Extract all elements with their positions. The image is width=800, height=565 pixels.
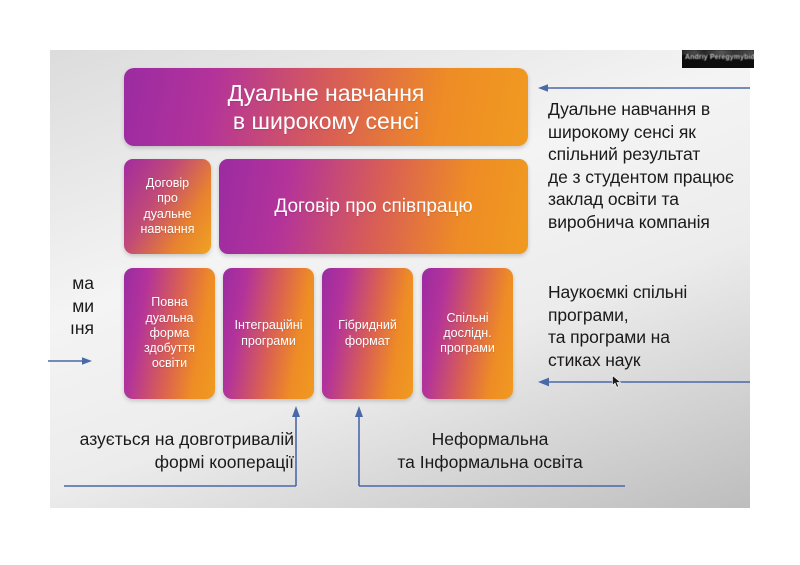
box-leaf-4-label: Спільні дослідн. програми [440,311,495,357]
box-cooperation-agreement: Договір про співпрацю [219,159,528,254]
bracket-arrow-bottom-right [355,404,635,490]
participant-name-label: Andriy Peregymybida [685,54,754,61]
callout-left: ма ми ıня [0,272,94,340]
box-leaf-1-label: Повна дуальна форма здобуття освіти [144,295,195,371]
bracket-arrow-bottom-left [60,404,300,490]
box-hybrid-format: Гібридний формат [322,268,413,399]
box-joint-research-programs: Спільні дослідн. програми [422,268,513,399]
box-leaf-2-label: Інтеграційні програми [235,318,303,349]
box-leaf-3-label: Гібридний формат [338,318,397,349]
box-contract-dual-label: Договір про дуальне навчання [141,176,195,237]
participant-name-badge: Andriy Peregymybida [682,50,754,68]
box-cooperation-label: Договір про співпрацю [274,195,472,218]
box-full-dual-form: Повна дуальна форма здобуття освіти [124,268,215,399]
box-integration-programs: Інтеграційні програми [223,268,314,399]
box-contract-dual-education: Договір про дуальне навчання [124,159,211,254]
box-title-label: Дуальне навчання в широкому сенсі [228,79,425,135]
box-dual-education-broad-sense: Дуальне навчання в широкому сенсі [124,68,528,146]
arrow-left-pointing-top [536,80,752,92]
arrow-right-pointing-left-side [48,354,94,366]
callout-top-right: Дуальне навчання в широкому сенсі як спі… [548,98,800,233]
callout-mid-right: Наукоємкі спільні програми, та програми … [548,281,778,371]
mouse-cursor [612,375,622,389]
arrow-left-pointing-middle [536,374,752,388]
